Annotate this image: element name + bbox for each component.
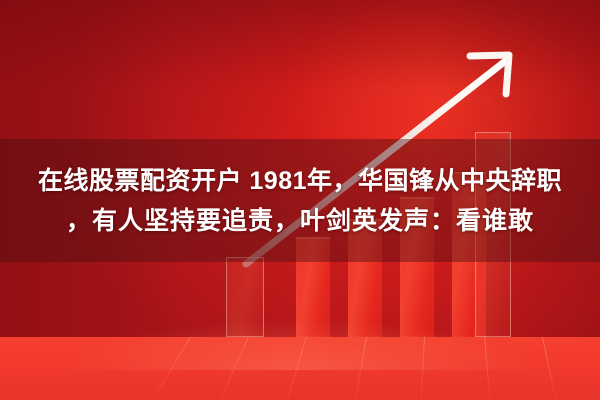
headline-line-2: ，有人坚持要追责，叶剑英发声：看谁敢 xyxy=(66,203,534,239)
headline: 在线股票配资开户 1981年，华国锋从中央辞职 ，有人坚持要追责，叶剑英发声：看… xyxy=(0,139,600,262)
promo-banner: 在线股票配资开户 1981年，华国锋从中央辞职 ，有人坚持要追责，叶剑英发声：看… xyxy=(0,0,600,400)
headline-line-1: 在线股票配资开户 1981年，华国锋从中央辞职 xyxy=(38,163,562,199)
floor-perspective-lines xyxy=(0,337,600,400)
chart-bar-outlined xyxy=(226,257,264,337)
